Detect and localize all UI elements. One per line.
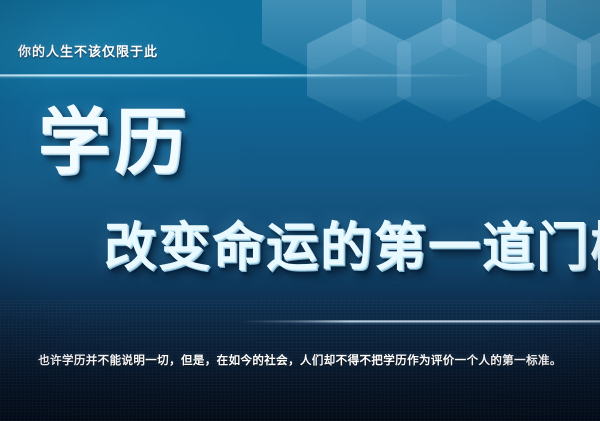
hexagon-shape — [487, 18, 591, 122]
hexagon-shape — [577, 18, 600, 122]
hexagon-shape — [262, 0, 366, 70]
hexagon-shape — [532, 0, 600, 70]
promo-poster: 你的人生不该仅限于此 学历 改变命运的第一道门槛 也许学历并不能说明一切，但是，… — [0, 0, 600, 421]
hexagon-shape — [352, 0, 456, 70]
hexagon-shape — [442, 0, 546, 70]
bottom-divider-line — [0, 320, 600, 325]
page-subtitle: 改变命运的第一道门槛 — [104, 222, 600, 274]
kicker-text: 你的人生不该仅限于此 — [18, 41, 158, 60]
caption-text: 也许学历并不能说明一切，但是，在如今的社会，人们却不得不把学历作为评价一个人的第… — [0, 352, 600, 368]
hexagon-shape — [307, 18, 411, 122]
hexagon-fade-mask — [240, 0, 600, 190]
page-title: 学历 — [38, 107, 190, 179]
top-divider-line — [0, 74, 600, 79]
hexagon-shape — [397, 18, 501, 122]
